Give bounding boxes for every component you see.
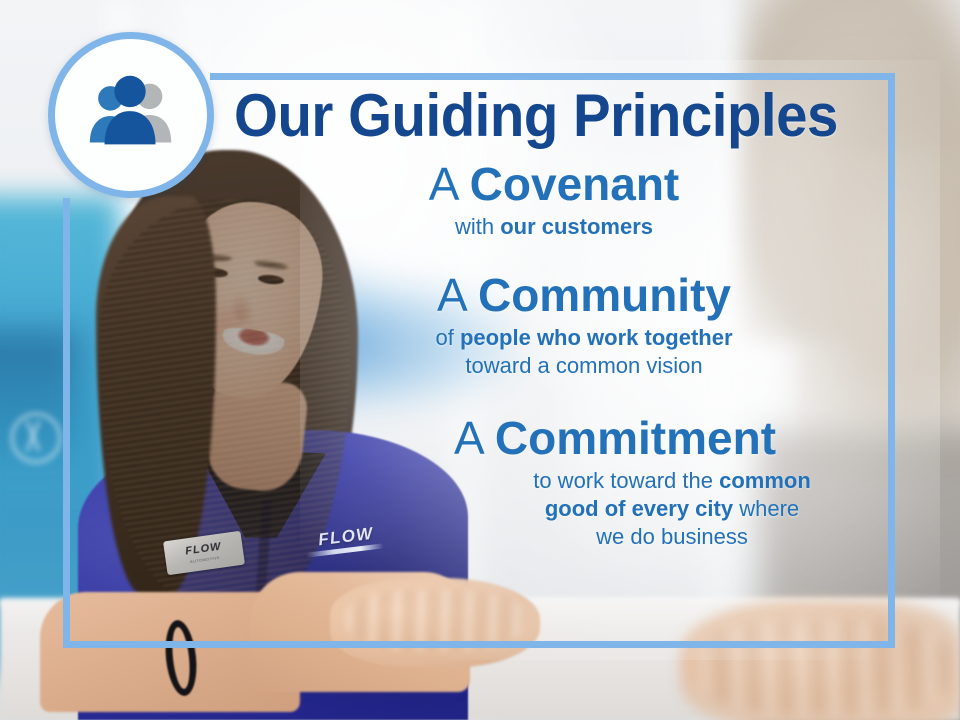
customer-fingers-blurred <box>700 620 950 715</box>
principle-2-title: A Community <box>296 271 872 320</box>
principle-2-keyword: Community <box>478 269 731 321</box>
employee-hand-detail <box>345 590 525 650</box>
people-group-badge <box>48 32 214 198</box>
principle-1-article: A <box>429 158 470 210</box>
principle-commitment: A Commitment to work toward the commongo… <box>358 414 872 551</box>
principle-3-sub-plain-3: we do business <box>596 524 748 549</box>
principle-2-sub-bold-1: people who work together <box>460 325 733 350</box>
principle-3-sub-bold-1: common <box>719 468 811 493</box>
principle-1-subtitle: with our customers <box>236 213 872 241</box>
guiding-principles-graphic: FLOW AUTOMOTIVE FLOW <box>0 0 960 720</box>
principle-1-sub-plain: with <box>455 214 500 239</box>
text-content: Our Guiding Principles A Covenant with o… <box>200 86 872 551</box>
principle-community: A Community of people who work togethert… <box>296 271 872 380</box>
principle-1-keyword: Covenant <box>470 158 680 210</box>
principle-3-sub-plain-2: where <box>733 496 799 521</box>
principle-1-title: A Covenant <box>236 160 872 209</box>
principle-3-sub-plain-1: to work toward the <box>533 468 719 493</box>
principle-3-title: A Commitment <box>358 414 872 463</box>
principle-3-subtitle: to work toward the commongood of every c… <box>472 467 872 551</box>
page-title: Our Guiding Principles <box>220 86 852 146</box>
principle-3-keyword: Commitment <box>495 412 776 464</box>
principle-3-sub-bold-2: good of every city <box>545 496 733 521</box>
principle-covenant: A Covenant with our customers <box>236 160 872 241</box>
principle-2-article: A <box>437 269 478 321</box>
principle-2-sub-plain-2: toward a common vision <box>465 353 702 378</box>
principle-3-article: A <box>454 412 495 464</box>
principle-1-sub-bold: our customers <box>500 214 653 239</box>
principle-2-sub-plain-1: of <box>435 325 459 350</box>
principle-2-subtitle: of people who work togethertoward a comm… <box>296 324 872 380</box>
people-group-icon <box>82 66 180 164</box>
